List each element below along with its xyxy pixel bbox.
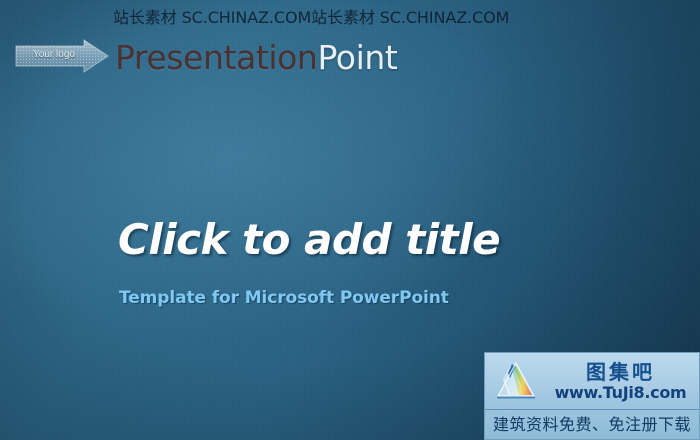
- subtitle-text[interactable]: Template for Microsoft PowerPoint: [119, 287, 449, 309]
- site-name: 图集吧: [545, 361, 696, 383]
- brand-word-point: Point: [317, 38, 397, 77]
- title-placeholder[interactable]: Click to add title: [118, 214, 500, 266]
- site-watermark-text-block: 图集吧 www.TuJi8.com: [545, 361, 699, 402]
- brand-word-presentation: Presentation: [115, 38, 317, 77]
- site-watermark-card: 图集吧 www.TuJi8.com 建筑资料免费、免注册下载: [484, 352, 700, 440]
- site-url[interactable]: www.TuJi8.com: [545, 383, 696, 402]
- site-tagline: 建筑资料免费、免注册下载: [485, 410, 699, 440]
- top-watermark-text: 站长素材 SC.CHINAZ.COM站长素材 SC.CHINAZ.COM: [113, 8, 509, 28]
- presentation-slide: 站长素材 SC.CHINAZ.COM站长素材 SC.CHINAZ.COM You…: [0, 0, 700, 440]
- book-stack-icon: [489, 357, 545, 405]
- logo-placeholder[interactable]: Your logo: [14, 38, 110, 74]
- logo-placeholder-label: Your logo: [21, 49, 87, 61]
- site-watermark-header: 图集吧 www.TuJi8.com: [485, 353, 699, 410]
- brand-wordmark: PresentationPoint: [115, 38, 397, 78]
